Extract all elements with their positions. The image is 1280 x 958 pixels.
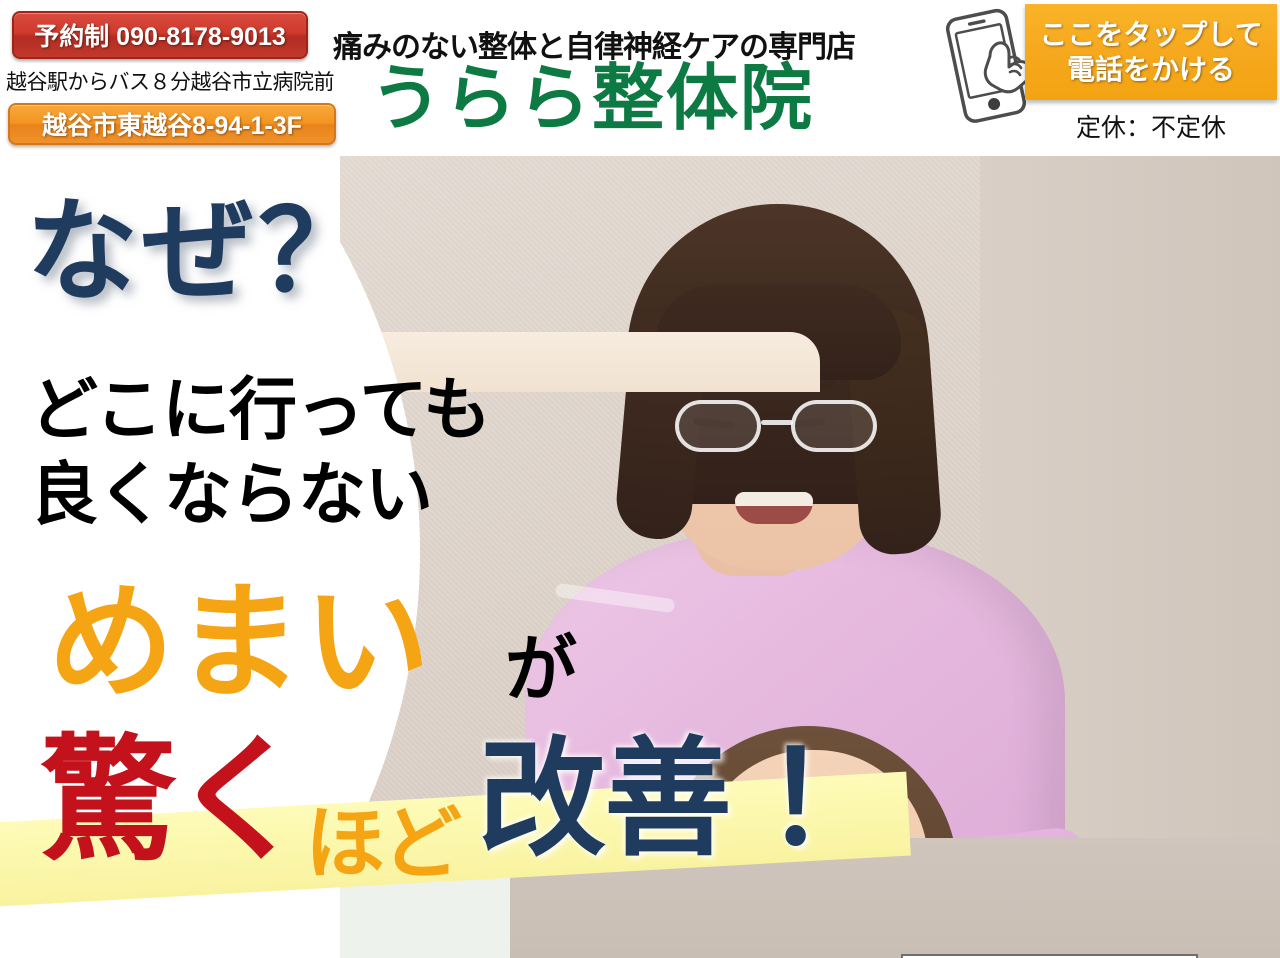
emphasis-navy: 改善 ！ xyxy=(478,736,890,864)
subline-2: 良くならない xyxy=(30,456,432,535)
hero-section: なぜ？ どこに行っても 良くならない めまい が 驚く ほど 改善 ！ 痛み不調… xyxy=(0,156,1280,958)
tap-to-call-line1: ここをタップして xyxy=(1039,17,1262,52)
particle-ga: が xyxy=(505,634,577,706)
emphasis-orange: ほど xyxy=(305,804,459,884)
subline-1: どこに行っても xyxy=(30,371,490,450)
emphasis-red: 驚く xyxy=(40,732,304,868)
hero-copy: なぜ？ どこに行っても 良くならない めまい が 驚く ほど 改善 ！ xyxy=(0,156,1280,958)
address-button[interactable]: 越谷市東越谷8-94-1-3F xyxy=(8,103,336,145)
phone-number-button[interactable]: 予約制 090-8178-9013 xyxy=(12,11,308,59)
practitioner-nameplate: 痛み不調のパイオニア 津村 泰子 xyxy=(901,954,1198,958)
closed-days-text: 定休：不定休 xyxy=(1025,108,1277,144)
tap-to-call-button[interactable]: ここをタップして 電話をかける xyxy=(1025,4,1277,100)
tap-to-call-line2: 電話をかける xyxy=(1067,52,1235,87)
access-text: 越谷駅からバス８分越谷市立病院前 xyxy=(6,66,346,94)
symptom-word: めまい xyxy=(48,580,432,706)
site-header: 予約制 090-8178-9013 越谷駅からバス８分越谷市立病院前 越谷市東越… xyxy=(0,0,1280,156)
clinic-name-logo: うらら整体院 xyxy=(370,63,814,135)
headline-question: なぜ？ xyxy=(26,196,374,308)
landing-page: 予約制 090-8178-9013 越谷駅からバス８分越谷市立病院前 越谷市東越… xyxy=(0,0,1280,958)
